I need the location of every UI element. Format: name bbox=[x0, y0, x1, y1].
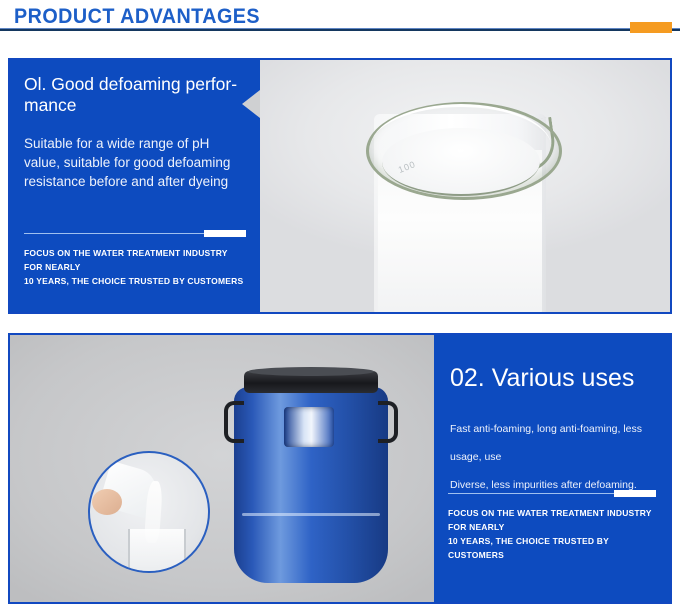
card-1-tagline-rule bbox=[24, 230, 246, 237]
card-2-tagline-line-1: FOCUS ON THE WATER TREATMENT INDUSTRY FO… bbox=[448, 506, 656, 534]
drum-highlight-band bbox=[242, 513, 380, 516]
advantage-card-1: Ol. Good defoaming perfor-mance Suitable… bbox=[8, 58, 672, 314]
card-2-tagline-block: FOCUS ON THE WATER TREATMENT INDUSTRY FO… bbox=[448, 490, 656, 562]
drum-lid-top bbox=[248, 367, 374, 376]
card-2-text-panel: 02. Various uses Fast anti-foaming, long… bbox=[434, 335, 670, 602]
card-2-photo-drum bbox=[10, 335, 434, 602]
card-1-title: Ol. Good defoaming perfor-mance bbox=[24, 74, 246, 116]
card-1-tagline-line-2: 10 YEARS, THE CHOICE TRUSTED BY CUSTOMER… bbox=[24, 274, 246, 288]
panel-notch-arrow-icon bbox=[242, 90, 260, 118]
card-2-body-line-1: Fast anti-foaming, long anti-foaming, le… bbox=[450, 415, 654, 471]
header-accent-bar bbox=[630, 22, 672, 33]
card-1-body-text: Suitable for a wide range of pH value, s… bbox=[24, 134, 234, 191]
inset-hand bbox=[92, 489, 122, 515]
header-rule-dark bbox=[0, 29, 680, 31]
drum-handle-left bbox=[224, 401, 244, 443]
card-1-tagline-line-1: FOCUS ON THE WATER TREATMENT INDUSTRY FO… bbox=[24, 246, 246, 274]
card-2-tagline-line-2: 10 YEARS, THE CHOICE TRUSTED BY CUSTOMER… bbox=[448, 534, 656, 562]
card-2-title: 02. Various uses bbox=[450, 363, 654, 393]
page-title: PRODUCT ADVANTAGES bbox=[14, 0, 640, 30]
pouring-inset-circle bbox=[88, 451, 210, 573]
card-1-tagline-block: FOCUS ON THE WATER TREATMENT INDUSTRY FO… bbox=[24, 230, 246, 288]
page-header: PRODUCT ADVANTAGES bbox=[0, 0, 680, 40]
drum-illustration bbox=[222, 365, 400, 585]
advantage-card-2: 02. Various uses Fast anti-foaming, long… bbox=[8, 333, 672, 604]
card-1-text-panel: Ol. Good defoaming perfor-mance Suitable… bbox=[10, 60, 260, 312]
card-2-tagline-rule bbox=[448, 490, 656, 497]
drum-handle-right bbox=[378, 401, 398, 443]
tagline-rule-cap bbox=[204, 230, 246, 237]
inset-beaker bbox=[128, 529, 186, 573]
drum-front-grip bbox=[284, 407, 334, 447]
tagline-rule-cap bbox=[614, 490, 656, 497]
beaker-illustration: 100 bbox=[356, 92, 566, 312]
card-1-photo-beaker: 100 bbox=[260, 60, 670, 312]
